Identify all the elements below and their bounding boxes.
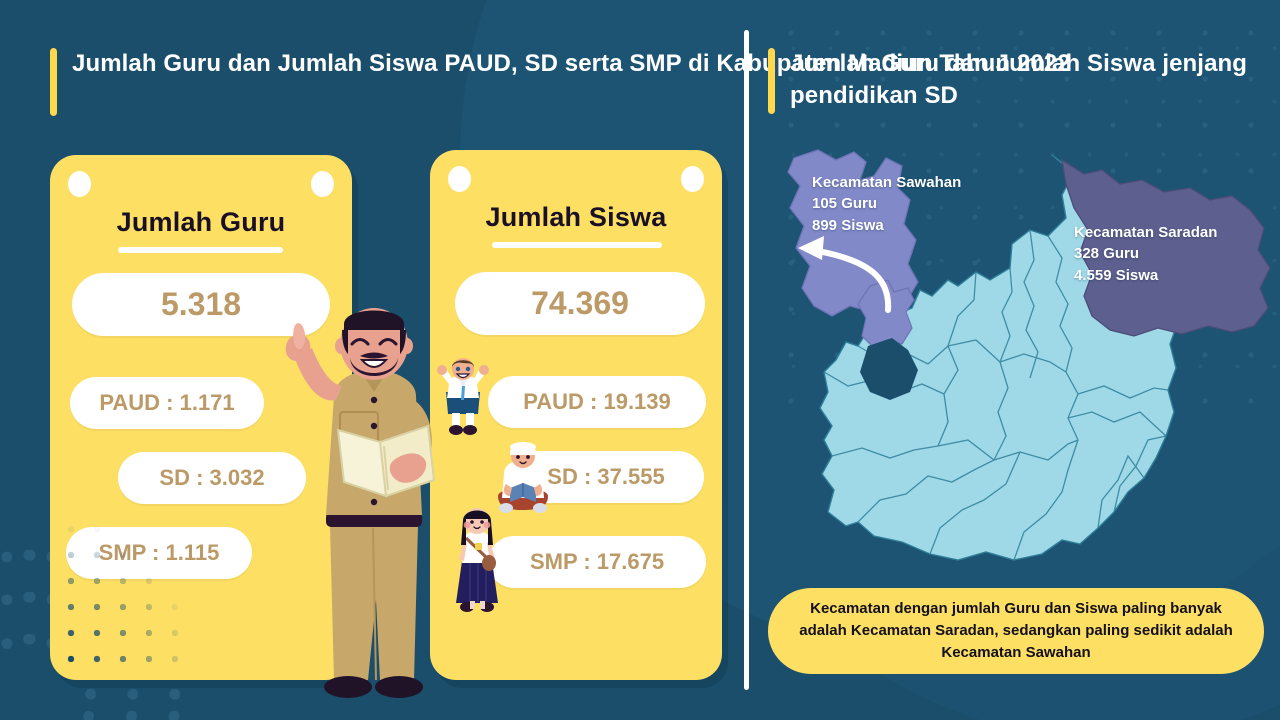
panel-divider (744, 30, 749, 690)
card-hole-right (681, 166, 704, 192)
card-title-guru: Jumlah Guru (50, 207, 352, 238)
sawahan-student-count: 899 Siswa (812, 215, 961, 236)
card-title-siswa: Jumlah Siswa (430, 202, 722, 233)
heading-accent-bar (768, 48, 775, 114)
right-panel-title: Jumlah Guru dan Jumlah Siswa jenjang pen… (790, 48, 1280, 111)
siswa-paud-value: PAUD : 19.139 (488, 376, 706, 428)
saradan-student-count: 4.559 Siswa (1074, 265, 1217, 286)
guru-paud-value: PAUD : 1.171 (70, 377, 264, 429)
card-dot-texture (58, 464, 233, 674)
map-label-saradan: Kecamatan Saradan 328 Guru 4.559 Siswa (1074, 222, 1217, 286)
siswa-total-value: 74.369 (455, 272, 705, 335)
card-title-underline (118, 247, 283, 253)
card-hole-right (311, 171, 334, 197)
right-panel-heading: Jumlah Guru dan Jumlah Siswa jenjang pen… (768, 48, 1280, 114)
card-title-underline (492, 242, 662, 248)
student-boy-cheering-illustration (432, 358, 494, 438)
card-hole-left (448, 166, 471, 192)
map-label-sawahan: Kecamatan Sawahan 105 Guru 899 Siswa (812, 172, 961, 236)
siswa-smp-value: SMP : 17.675 (488, 536, 706, 588)
student-girl-with-bag-illustration (448, 505, 506, 617)
sawahan-district-name: Kecamatan Sawahan (812, 172, 961, 193)
saradan-district-name: Kecamatan Saradan (1074, 222, 1217, 243)
card-hole-left (68, 171, 91, 197)
map-summary-note: Kecamatan dengan jumlah Guru dan Siswa p… (768, 588, 1264, 674)
saradan-teacher-count: 328 Guru (1074, 243, 1217, 264)
heading-accent-bar (50, 48, 57, 116)
sawahan-teacher-count: 105 Guru (812, 193, 961, 214)
